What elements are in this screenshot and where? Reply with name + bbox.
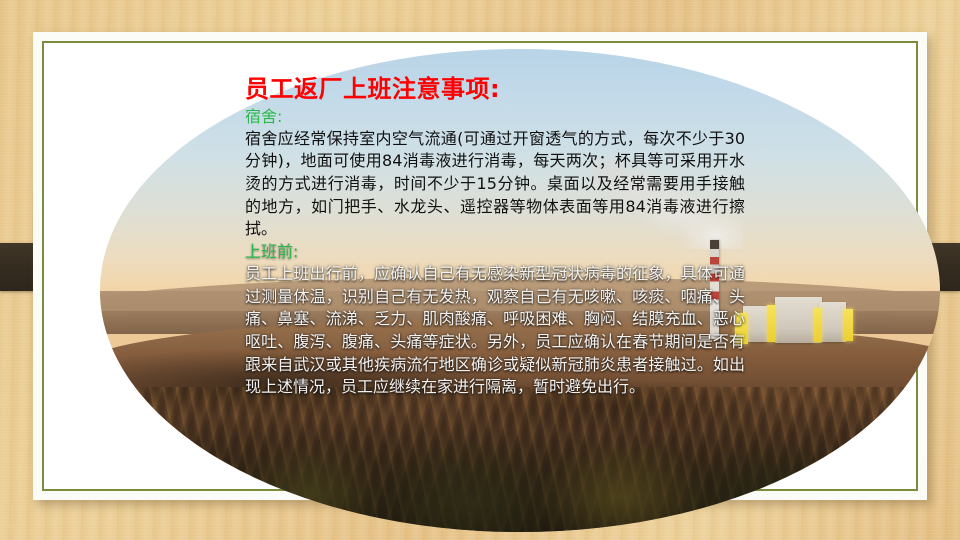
plant-light-4: [843, 309, 854, 341]
section-body-dormitory: 宿舍应经常保持室内空气流通(可通过开窗透气的方式，每次不少于30分钟)，地面可使…: [245, 128, 745, 242]
section-heading-before-work: 上班前:: [245, 241, 745, 263]
slide-canvas: 员工返厂上班注意事项: 宿舍: 宿舍应经常保持室内空气流通(可通过开窗透气的方式…: [0, 0, 960, 540]
plant-light-3: [814, 308, 822, 342]
slide-headline: 员工返厂上班注意事项:: [245, 74, 745, 104]
section-heading-dormitory: 宿舍:: [245, 106, 745, 128]
plant-light-2: [767, 305, 775, 342]
section-body-before-work: 员工上班出行前，应确认自己有无感染新型冠状病毒的征象，具体可通过测量体温，识别自…: [245, 263, 745, 399]
slide-text-block: 员工返厂上班注意事项: 宿舍: 宿舍应经常保持室内空气流通(可通过开窗透气的方式…: [245, 74, 745, 399]
